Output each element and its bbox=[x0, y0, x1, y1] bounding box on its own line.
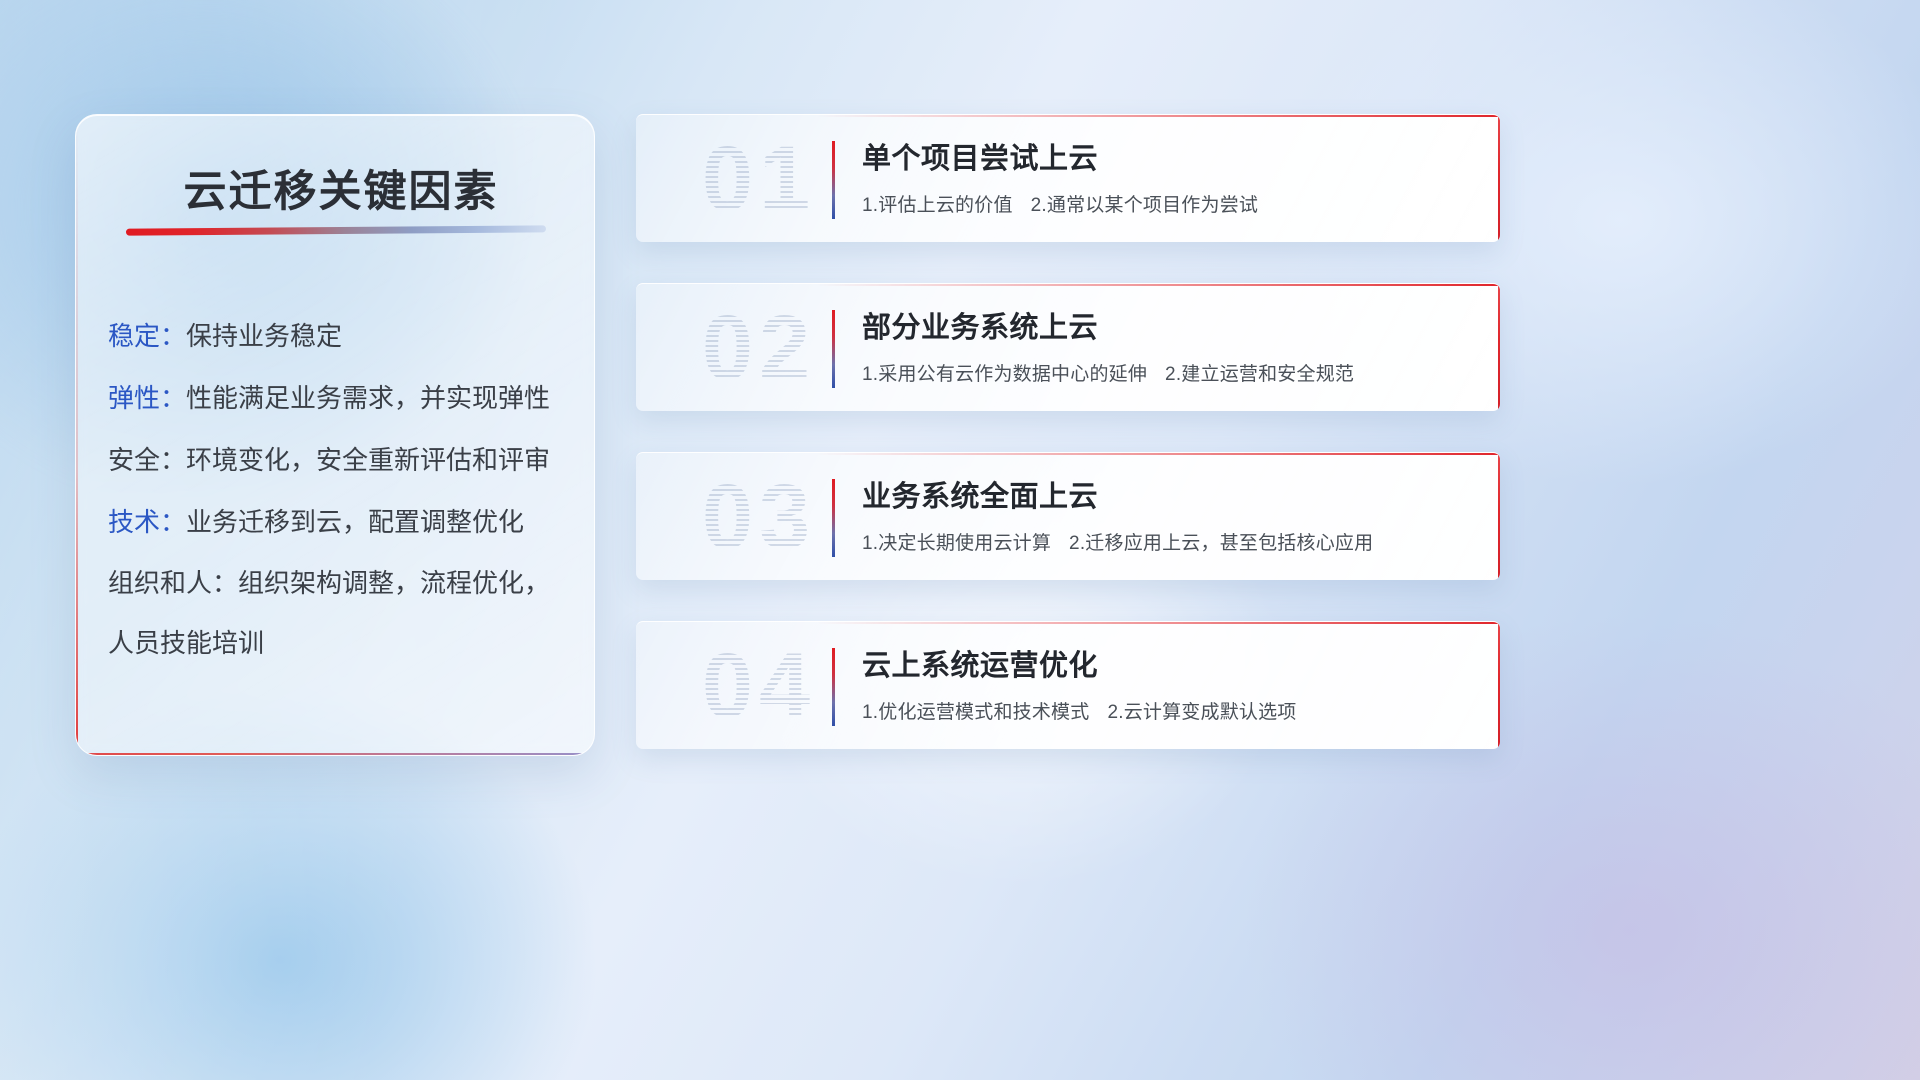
stage-card-04[interactable]: 04 云上系统运营优化 1.优化运营模式和技术模式2.云计算变成默认选项 bbox=[636, 621, 1500, 749]
stage-card-title: 单个项目尝试上云 bbox=[862, 135, 1470, 177]
stage-accent-bar bbox=[832, 141, 835, 219]
stage-card-title: 业务系统全面上云 bbox=[862, 473, 1470, 515]
factor-label: 技术： bbox=[108, 507, 186, 537]
factor-label: 安全： bbox=[108, 445, 186, 475]
stage-card-01[interactable]: 01 单个项目尝试上云 1.评估上云的价值2.通常以某个项目作为尝试 bbox=[636, 114, 1500, 242]
stage-card-description: 1.决定长期使用云计算2.迁移应用上云，甚至包括核心应用 bbox=[862, 528, 1470, 555]
stage-number-01: 01 bbox=[664, 121, 854, 237]
stage-card-body: 部分业务系统上云 1.采用公有云作为数据中心的延伸2.建立运营和安全规范 bbox=[862, 304, 1470, 386]
stage-cards-list: 01 单个项目尝试上云 1.评估上云的价值2.通常以某个项目作为尝试 02 部分… bbox=[636, 114, 1500, 790]
factor-label: 组织和人： bbox=[108, 568, 238, 598]
stage-card-title: 部分业务系统上云 bbox=[862, 304, 1470, 346]
key-factors-panel: 云迁移关键因素 稳定：保持业务稳定 弹性：性能满足业务需求，并实现弹性 安全：环… bbox=[75, 114, 595, 756]
stage-card-description-part-1: 1.采用公有云作为数据中心的延伸 bbox=[862, 364, 1147, 385]
stage-number-02: 02 bbox=[664, 290, 854, 406]
panel-title-underline bbox=[126, 225, 546, 235]
stage-card-body: 云上系统运营优化 1.优化运营模式和技术模式2.云计算变成默认选项 bbox=[862, 642, 1470, 724]
key-factors-list: 稳定：保持业务稳定 弹性：性能满足业务需求，并实现弹性 安全：环境变化，安全重新… bbox=[108, 305, 568, 673]
stage-accent-bar bbox=[832, 648, 835, 726]
stage-card-description: 1.采用公有云作为数据中心的延伸2.建立运营和安全规范 bbox=[862, 359, 1470, 386]
factor-item-organization-and-people: 组织和人：组织架构调整，流程优化，人员技能培训 bbox=[108, 553, 568, 673]
stage-accent-bar bbox=[832, 479, 835, 557]
factor-label: 弹性： bbox=[108, 383, 186, 413]
stage-card-body: 单个项目尝试上云 1.评估上云的价值2.通常以某个项目作为尝试 bbox=[862, 135, 1470, 217]
stage-card-description-part-1: 1.评估上云的价值 bbox=[862, 195, 1013, 216]
stage-card-body: 业务系统全面上云 1.决定长期使用云计算2.迁移应用上云，甚至包括核心应用 bbox=[862, 473, 1470, 555]
factor-label: 稳定： bbox=[108, 321, 186, 351]
factor-item-technology: 技术：业务迁移到云，配置调整优化 bbox=[108, 491, 568, 553]
factor-text: 环境变化，安全重新评估和评审 bbox=[186, 445, 550, 475]
stage-card-03[interactable]: 03 业务系统全面上云 1.决定长期使用云计算2.迁移应用上云，甚至包括核心应用 bbox=[636, 452, 1500, 580]
stage-card-description-part-2: 2.迁移应用上云，甚至包括核心应用 bbox=[1069, 533, 1373, 554]
stage-number-03: 03 bbox=[664, 459, 854, 575]
stage-card-description-part-1: 1.优化运营模式和技术模式 bbox=[862, 702, 1089, 723]
stage-number-04: 04 bbox=[664, 628, 854, 744]
stage-card-description-part-2: 2.通常以某个项目作为尝试 bbox=[1031, 195, 1258, 216]
factor-item-elasticity: 弹性：性能满足业务需求，并实现弹性 bbox=[108, 367, 568, 429]
stage-card-description-part-2: 2.云计算变成默认选项 bbox=[1107, 702, 1296, 723]
factor-item-stability: 稳定：保持业务稳定 bbox=[108, 305, 568, 367]
stage-card-description-part-1: 1.决定长期使用云计算 bbox=[862, 533, 1051, 554]
factor-item-security: 安全：环境变化，安全重新评估和评审 bbox=[108, 429, 568, 491]
stage-card-description: 1.评估上云的价值2.通常以某个项目作为尝试 bbox=[862, 190, 1470, 217]
factor-text: 保持业务稳定 bbox=[186, 321, 342, 351]
stage-accent-bar bbox=[832, 310, 835, 388]
factor-text: 性能满足业务需求，并实现弹性 bbox=[186, 383, 550, 413]
stage-card-02[interactable]: 02 部分业务系统上云 1.采用公有云作为数据中心的延伸2.建立运营和安全规范 bbox=[636, 283, 1500, 411]
factor-text: 业务迁移到云，配置调整优化 bbox=[186, 507, 524, 537]
panel-title: 云迁移关键因素 bbox=[126, 157, 556, 219]
stage-card-description: 1.优化运营模式和技术模式2.云计算变成默认选项 bbox=[862, 697, 1470, 724]
stage-card-description-part-2: 2.建立运营和安全规范 bbox=[1165, 364, 1354, 385]
stage-card-title: 云上系统运营优化 bbox=[862, 642, 1470, 684]
